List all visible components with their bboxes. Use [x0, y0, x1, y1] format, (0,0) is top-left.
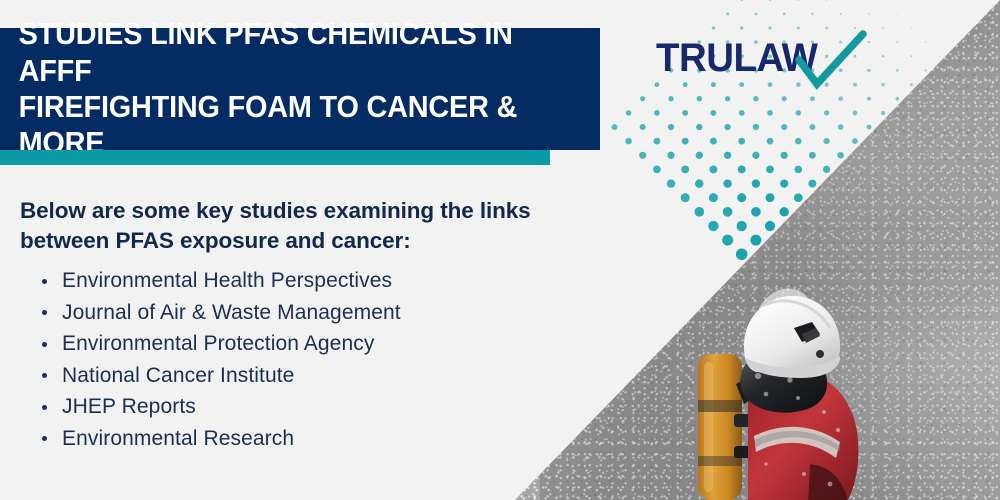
infographic-canvas: STUDIES LINK PFAS CHEMICALS IN AFFF FIRE… [0, 0, 1000, 500]
list-item-label: Journal of Air & Waste Management [62, 301, 401, 324]
headline-band: STUDIES LINK PFAS CHEMICALS IN AFFF FIRE… [0, 28, 600, 150]
firefighter-figure [690, 288, 920, 500]
list-item: National Cancer Institute [20, 360, 640, 392]
list-item-label: National Cancer Institute [62, 364, 294, 387]
studies-list: Environmental Health Perspectives Journa… [20, 265, 640, 454]
helmet [744, 296, 840, 378]
bullet-icon [42, 310, 47, 315]
bullet-icon [42, 342, 47, 347]
list-item-label: Environmental Protection Agency [62, 332, 374, 355]
list-item-label: Environmental Health Perspectives [62, 269, 392, 292]
list-item: Journal of Air & Waste Management [20, 297, 640, 329]
checkmark-icon [795, 30, 867, 92]
list-item: JHEP Reports [20, 391, 640, 423]
air-tank [698, 354, 742, 500]
list-item: Environmental Protection Agency [20, 328, 640, 360]
lede-text: Below are some key studies examining the… [20, 196, 640, 256]
page-title: STUDIES LINK PFAS CHEMICALS IN AFFF FIRE… [0, 16, 558, 161]
bullet-icon [42, 373, 47, 378]
list-item-label: JHEP Reports [62, 395, 196, 418]
bullet-icon [42, 405, 47, 410]
bullet-icon [42, 279, 47, 284]
list-item-label: Environmental Research [62, 427, 294, 450]
bullet-icon [42, 436, 47, 441]
body-copy: Below are some key studies examining the… [20, 196, 640, 454]
logo-wordmark: TRULAW [656, 36, 817, 81]
list-item: Environmental Research [20, 423, 640, 455]
trulaw-logo[interactable]: TRULAW [656, 34, 866, 90]
list-item: Environmental Health Perspectives [20, 265, 640, 297]
teal-accent-bar [0, 150, 550, 165]
